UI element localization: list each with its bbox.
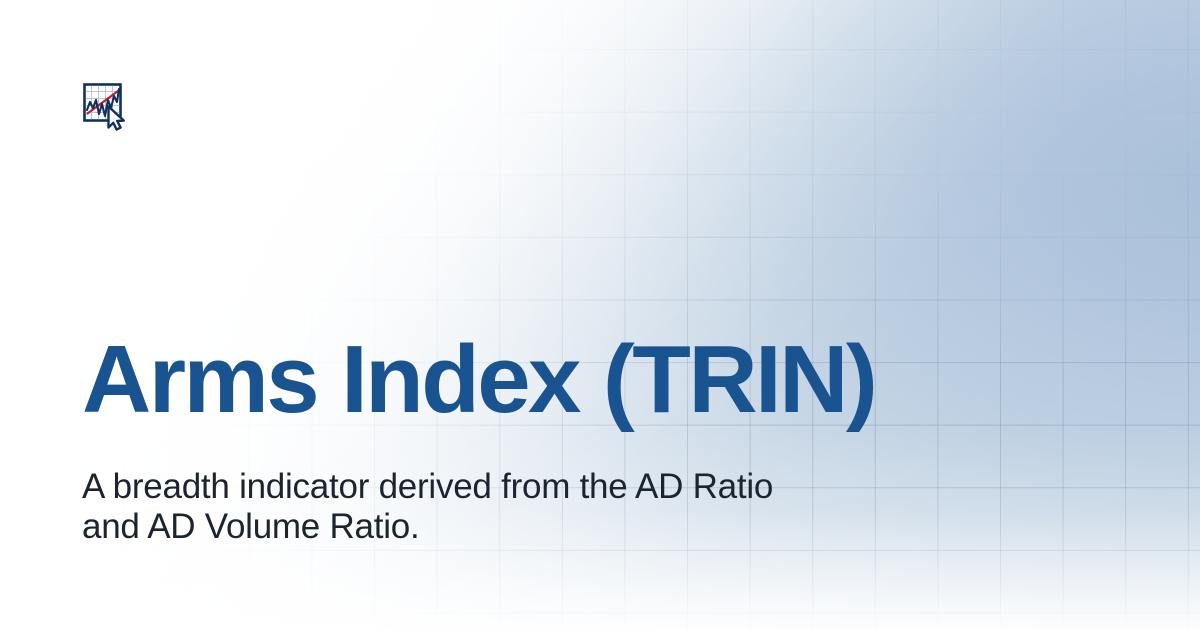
page-title: Arms Index (TRIN): [82, 330, 1102, 430]
page-subtitle-line-1: A breadth indicator derived from the AD …: [82, 467, 842, 507]
brand-name: StockCharts: [143, 89, 359, 127]
brand-lockup: StockCharts: [82, 80, 359, 134]
headline-block: Arms Index (TRIN): [82, 330, 1102, 430]
stockcharts-logo-icon: [82, 82, 132, 132]
stockcharts-social-card: StockCharts Arms Index (TRIN) A breadth …: [0, 0, 1200, 630]
page-subtitle-line-2: and AD Volume Ratio.: [82, 507, 842, 547]
card-content: StockCharts Arms Index (TRIN) A breadth …: [0, 0, 1200, 630]
page-subtitle: A breadth indicator derived from the AD …: [82, 467, 842, 547]
